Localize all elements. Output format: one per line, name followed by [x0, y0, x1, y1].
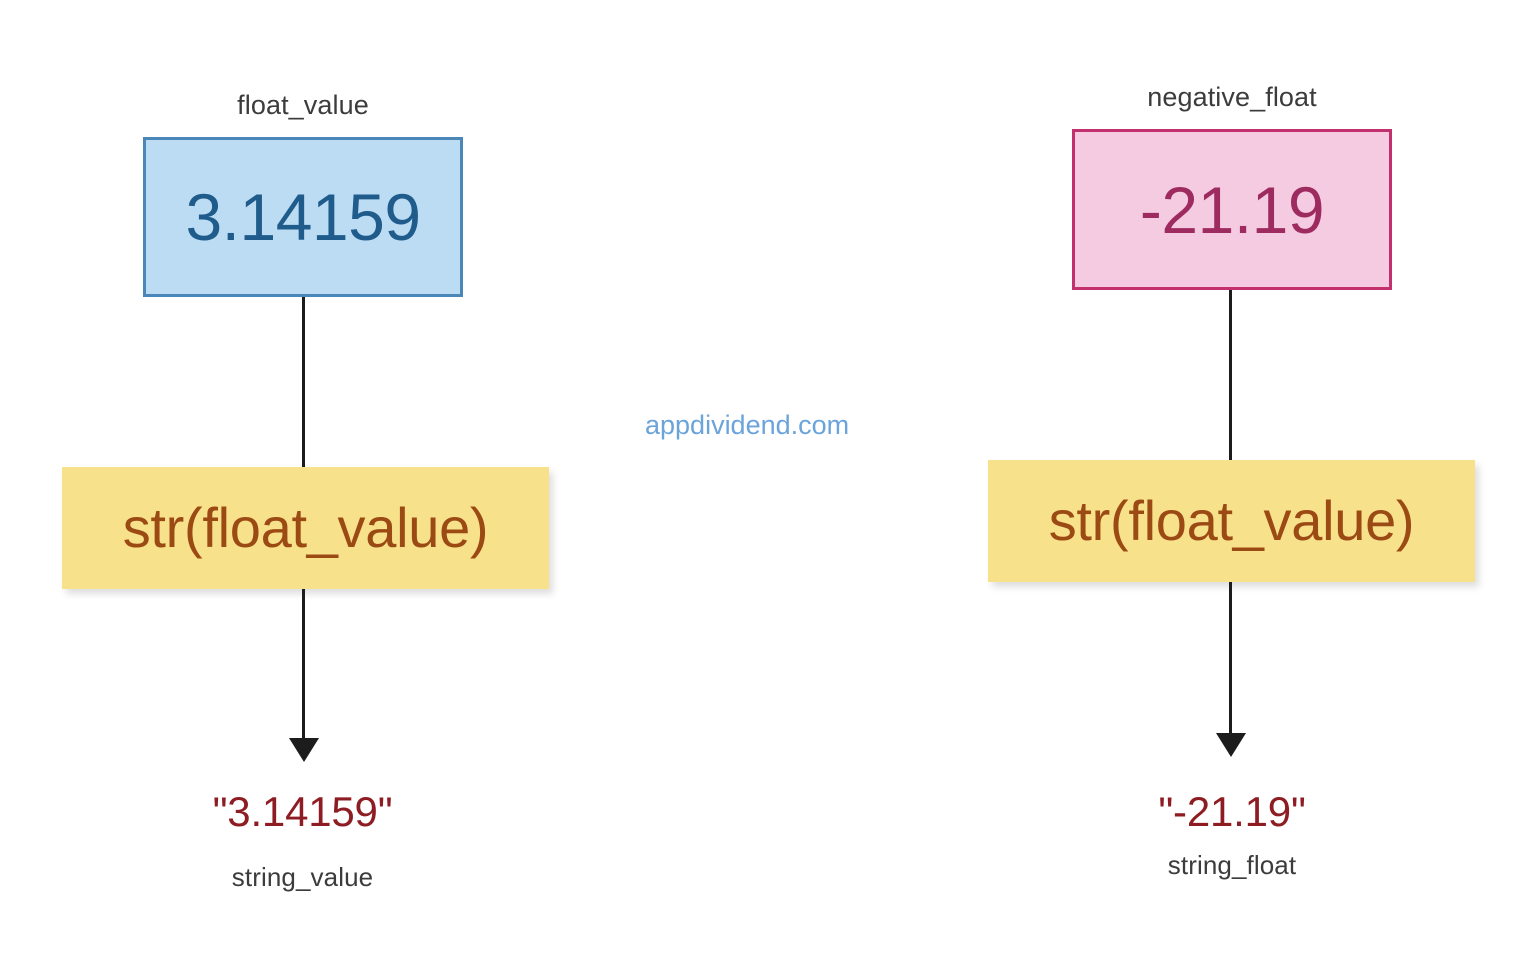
diagram-canvas: float_value 3.14159 str(float_value) "3.… [0, 0, 1536, 976]
connector-input-to-function-right [1229, 290, 1232, 469]
connector-function-to-output-right [1229, 582, 1232, 737]
input-value-text-right: -21.19 [1140, 177, 1324, 243]
function-box-right: str(float_value) [988, 460, 1475, 582]
input-caption-right: negative_float [1072, 82, 1392, 113]
function-label-right: str(float_value) [1049, 493, 1415, 549]
input-caption-left: float_value [143, 90, 463, 121]
connector-function-to-output-left [302, 589, 305, 742]
output-value-left: "3.14159" [145, 788, 460, 836]
connector-input-to-function-left [302, 297, 305, 469]
input-value-text-left: 3.14159 [185, 184, 420, 250]
output-caption-right: string_float [1077, 850, 1387, 881]
arrowhead-left [289, 738, 319, 762]
function-box-left: str(float_value) [62, 467, 549, 589]
arrowhead-right [1216, 733, 1246, 757]
input-value-box-right: -21.19 [1072, 129, 1392, 290]
input-value-box-left: 3.14159 [143, 137, 463, 297]
output-value-right: "-21.19" [1077, 788, 1387, 836]
output-caption-left: string_value [145, 862, 460, 893]
function-label-left: str(float_value) [123, 500, 489, 556]
watermark-label: appdividend.com [645, 410, 849, 441]
